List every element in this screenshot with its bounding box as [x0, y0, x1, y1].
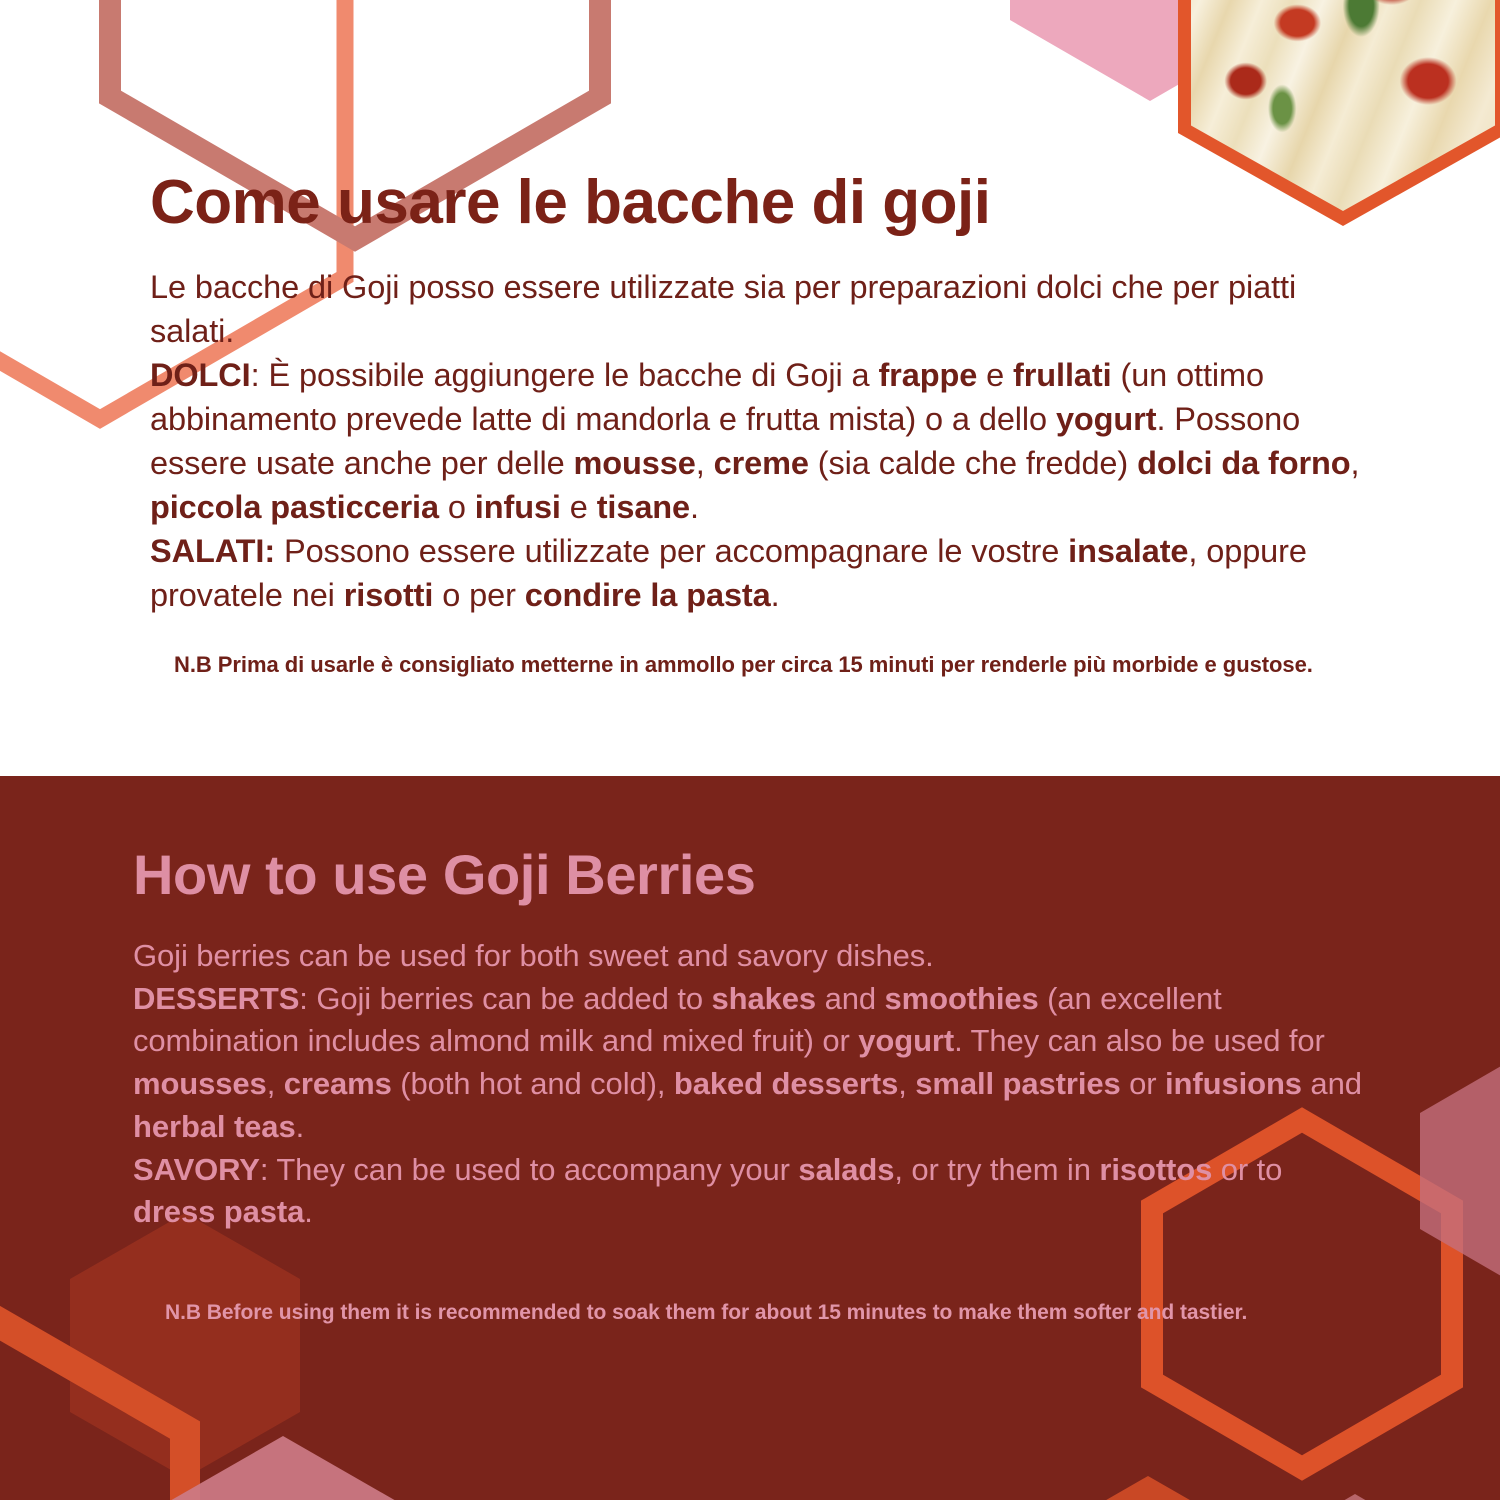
italian-paragraph: SALATI: Possono essere utilizzate per ac…: [150, 529, 1380, 617]
emphasised-term: smoothies: [885, 981, 1039, 1016]
body-text-run: ,: [898, 1066, 915, 1101]
english-content: How to use Goji Berries Goji berries can…: [133, 846, 1373, 1327]
body-text-run: Le bacche di Goji posso essere utilizzat…: [150, 269, 1296, 349]
emphasised-term: dolci da forno: [1137, 445, 1350, 481]
body-text-run: Goji berries can be used for both sweet …: [133, 938, 934, 973]
emphasised-term: SAVORY: [133, 1152, 260, 1187]
body-text-run: , or try them in: [894, 1152, 1099, 1187]
emphasised-term: tisane: [597, 489, 690, 525]
english-paragraph: SAVORY: They can be used to accompany yo…: [133, 1149, 1373, 1235]
italian-page-title: Come usare le bacche di goji: [150, 170, 1380, 235]
english-paragraph: Goji berries can be used for both sweet …: [133, 935, 1373, 978]
emphasised-term: frappe: [878, 357, 977, 393]
emphasised-term: creams: [284, 1066, 392, 1101]
italian-paragraph: DOLCI: È possibile aggiungere le bacche …: [150, 353, 1380, 529]
italian-content: Come usare le bacche di goji Le bacche d…: [150, 170, 1380, 679]
body-text-run: and: [1302, 1066, 1362, 1101]
body-text-run: .: [690, 489, 699, 525]
body-text-run: ,: [267, 1066, 284, 1101]
hex-filled-right-rose-icon: [1420, 1055, 1500, 1287]
body-text-run: Possono essere utilizzate per accompagna…: [275, 533, 1068, 569]
emphasised-term: yogurt: [1056, 401, 1157, 437]
infographic-page: Come usare le bacche di goji Le bacche d…: [0, 0, 1500, 1500]
body-text-run: (both hot and cold),: [392, 1066, 674, 1101]
emphasised-term: herbal teas: [133, 1109, 296, 1144]
italian-body-text: Le bacche di Goji posso essere utilizzat…: [150, 265, 1380, 617]
body-text-run: : Goji berries can be added to: [299, 981, 711, 1016]
emphasised-term: risottos: [1099, 1152, 1212, 1187]
body-text-run: .: [304, 1194, 313, 1229]
hex-filled-bottom-pink-icon: [1255, 1494, 1455, 1500]
emphasised-term: creme: [714, 445, 809, 481]
emphasised-term: frullati: [1013, 357, 1112, 393]
body-text-run: .: [771, 577, 780, 613]
emphasised-term: infusions: [1165, 1066, 1302, 1101]
emphasised-term: piccola pasticceria: [150, 489, 439, 525]
hex-filled-bottom-right-orange-icon: [1033, 1476, 1263, 1500]
emphasised-term: dress pasta: [133, 1194, 304, 1229]
italian-section: Come usare le bacche di goji Le bacche d…: [0, 0, 1500, 776]
emphasised-term: baked desserts: [674, 1066, 898, 1101]
body-text-run: e: [977, 357, 1013, 393]
english-paragraph: DESSERTS: Goji berries can be added to s…: [133, 978, 1373, 1149]
emphasised-term: salads: [798, 1152, 894, 1187]
body-text-run: . They can also be used for: [954, 1023, 1325, 1058]
emphasised-term: yogurt: [858, 1023, 954, 1058]
emphasised-term: condire la pasta: [525, 577, 771, 613]
emphasised-term: mousse: [574, 445, 696, 481]
hex-filled-bottom-pink-icon: [168, 1436, 398, 1500]
emphasised-term: DESSERTS: [133, 981, 299, 1016]
body-text-run: : È possibile aggiungere le bacche di Go…: [251, 357, 879, 393]
body-text-run: : They can be used to accompany your: [260, 1152, 799, 1187]
emphasised-term: risotti: [344, 577, 434, 613]
emphasised-term: shakes: [712, 981, 817, 1016]
body-text-run: ,: [696, 445, 714, 481]
emphasised-term: mousses: [133, 1066, 267, 1101]
english-section: How to use Goji Berries Goji berries can…: [0, 776, 1500, 1500]
body-text-run: e: [561, 489, 597, 525]
body-text-run: and: [816, 981, 884, 1016]
body-text-run: (sia calde che fredde): [809, 445, 1137, 481]
italian-paragraph: Le bacche di Goji posso essere utilizzat…: [150, 265, 1380, 353]
emphasised-term: SALATI:: [150, 533, 275, 569]
emphasised-term: insalate: [1068, 533, 1188, 569]
emphasised-term: DOLCI: [150, 357, 251, 393]
italian-nb-note: N.B Prima di usarle è consigliato metter…: [174, 651, 1374, 679]
body-text-run: or to: [1212, 1152, 1282, 1187]
english-nb-note: N.B Before using them it is recommended …: [165, 1300, 1365, 1327]
english-body-text: Goji berries can be used for both sweet …: [133, 935, 1373, 1234]
body-text-run: ,: [1351, 445, 1360, 481]
body-text-run: .: [296, 1109, 305, 1144]
english-page-title: How to use Goji Berries: [133, 846, 1373, 905]
body-text-run: or: [1121, 1066, 1165, 1101]
body-text-run: o per: [433, 577, 524, 613]
emphasised-term: infusi: [475, 489, 561, 525]
emphasised-term: small pastries: [915, 1066, 1120, 1101]
body-text-run: o: [439, 489, 475, 525]
